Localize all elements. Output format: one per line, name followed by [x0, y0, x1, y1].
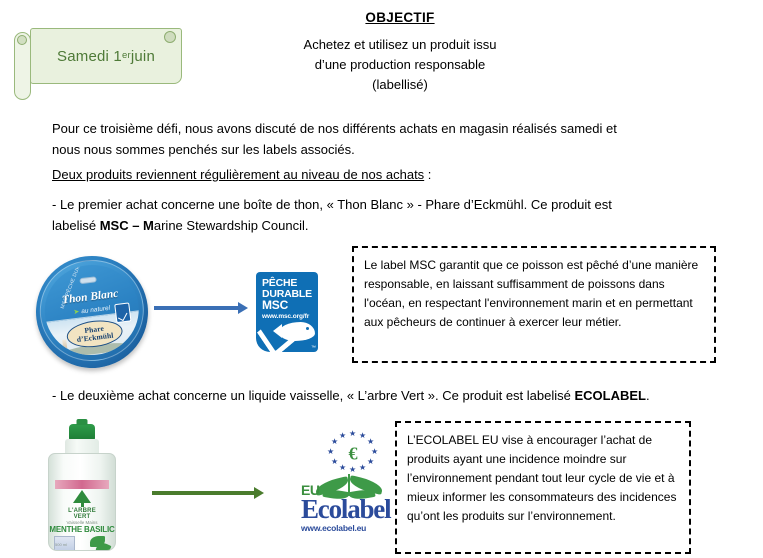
msc-trademark-symbol: ™ [311, 345, 316, 351]
scroll-left-curl [14, 32, 31, 100]
eu-star-icon: ★ [349, 466, 356, 474]
second-purchase-text-1: - Le deuxième achat concerne un liquide … [52, 388, 574, 403]
eu-star-icon: ★ [367, 458, 374, 466]
paragraph-second-purchase: - Le deuxième achat concerne un liquide … [52, 385, 672, 406]
tree-icon [73, 490, 91, 503]
eu-star-icon: ★ [331, 438, 338, 446]
eu-star-icon: ★ [367, 438, 374, 446]
eu-star-icon: ★ [371, 448, 378, 456]
paragraph-first-purchase: - Le premier achat concerne une boîte de… [52, 194, 652, 236]
paragraph-intro: Pour ce troisième défi, nous avons discu… [52, 118, 638, 160]
banner-date-prefix: Samedi 1 [57, 48, 122, 65]
date-scroll-banner: Samedi 1er juin [8, 18, 188, 96]
eu-ecolabel-logo: ★ ★ ★ ★ ★ ★ ★ ★ ★ ★ ★ ★ € EU Ecolabel ww… [299, 430, 399, 536]
first-purchase-label: MSC – M [100, 218, 154, 233]
eu-star-icon: ★ [349, 430, 356, 438]
two-products-underlined-text: Deux produits reviennent régulièrement a… [52, 167, 424, 182]
eu-star-icon: ★ [331, 458, 338, 466]
dish-soap-bottle-image: L'ARBRE VERT Vaisselle Mains MENTHE BASI… [46, 424, 118, 552]
ecolabel-wordmark: Ecolabel [301, 496, 390, 523]
objective-line-2: d’une production responsable [200, 55, 600, 75]
msc-logo-line-3: MSC [262, 300, 288, 311]
ecolabel-flower-icon: ★ ★ ★ ★ ★ ★ ★ ★ ★ ★ ★ ★ € [327, 430, 379, 478]
bottle-variant-name: MENTHE BASILIC [49, 525, 115, 534]
arrow-shaft [152, 491, 255, 495]
arrow-head [254, 487, 264, 499]
paragraph-two-products: Deux produits reviennent régulièrement a… [52, 164, 638, 185]
msc-description-box: Le label MSC garantit que ce poisson est… [352, 246, 716, 363]
second-purchase-text-2: . [646, 388, 650, 403]
document-page: Samedi 1er juin OBJECTIF Achetez et util… [0, 0, 763, 558]
bottle-brand-logo: L'ARBRE VERT [62, 490, 102, 520]
ecolabel-url: www.ecolabel.eu [301, 523, 366, 533]
banner-date-label: Samedi 1er juin [30, 28, 182, 84]
two-products-colon: : [424, 167, 431, 182]
eu-star-icon: ★ [327, 448, 334, 456]
bottle-brand-name: L'ARBRE VERT [62, 508, 102, 520]
can-msc-badge-icon [114, 302, 131, 323]
msc-fish-icon [279, 322, 315, 341]
bottle-pink-band [55, 480, 109, 489]
objective-line-1: Achetez et utilisez un produit issu [200, 35, 600, 55]
objective-line-3: (labellisé) [200, 75, 600, 95]
objective-header: OBJECTIF Achetez et utilisez un produit … [200, 10, 600, 95]
eu-star-icon: ★ [359, 464, 366, 472]
objective-title: OBJECTIF [200, 10, 600, 25]
msc-logo: PÊCHE DURABLE MSC www.msc.org/fr ™ [256, 272, 318, 352]
tuna-can-image: MSC PÊCHE DURABLE Thon Blanc au naturel … [30, 250, 155, 375]
arrow-shaft [154, 306, 239, 310]
arrow-head [238, 302, 248, 314]
can-oval-line-2: d’Eckmühl [76, 332, 113, 344]
bottle-cap [69, 424, 95, 440]
arrow-right-green-icon [152, 491, 264, 495]
arrow-right-blue-icon [154, 306, 248, 310]
second-purchase-label: ECOLABEL [574, 388, 646, 403]
tree-trunk-icon [81, 503, 84, 507]
banner-date-suffix: juin [131, 48, 155, 65]
ecolabel-description-box: L’ECOLABEL EU vise à encourager l’achat … [395, 421, 691, 554]
bottle-body: L'ARBRE VERT Vaisselle Mains MENTHE BASI… [48, 453, 116, 551]
can-lighthouse-artwork [62, 339, 68, 354]
eu-star-icon: ★ [339, 432, 346, 440]
euro-symbol-icon: € [349, 444, 358, 465]
bottle-volume-text: 500 ml [55, 542, 67, 547]
can-pull-tab [79, 276, 97, 284]
first-purchase-text-2: arine Stewardship Council. [154, 218, 309, 233]
eu-star-icon: ★ [359, 432, 366, 440]
eu-star-icon: ★ [339, 464, 346, 472]
can-outer-shell: MSC PÊCHE DURABLE Thon Blanc au naturel … [30, 250, 155, 375]
